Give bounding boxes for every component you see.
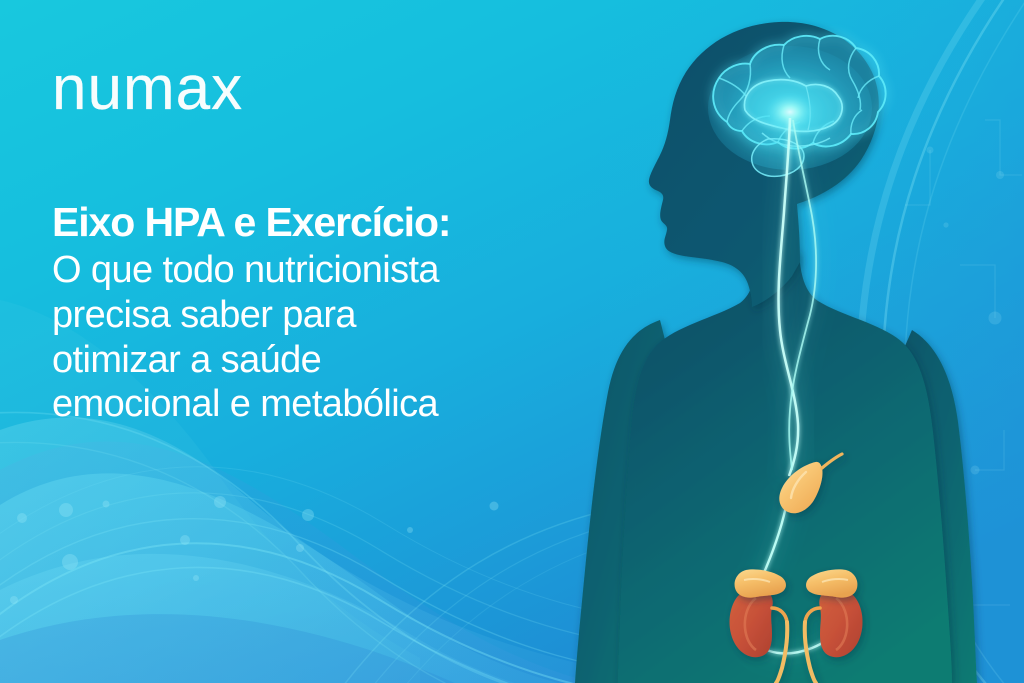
human-figure-illustration [0,0,1024,683]
promo-banner: numax Eixo HPA e Exercício: O que todo n… [0,0,1024,683]
